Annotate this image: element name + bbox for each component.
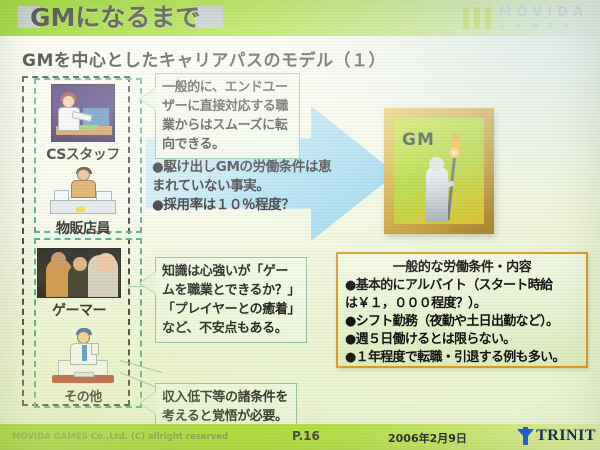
movida-sub: G A M E S: [499, 22, 588, 30]
movida-name: MOVIDA: [499, 6, 588, 19]
movida-wordmark: MOVIDA G A M E S: [499, 4, 588, 30]
trinity-mark-icon: [517, 427, 534, 445]
cs-staff-icon: [51, 84, 115, 142]
callout-text: 一般的に、エンドユーザーに直接対応する職業からはスムーズに転向できる。: [162, 80, 288, 152]
conditions-item: ●基本的にアルバイト（スタート時給: [345, 277, 579, 295]
footer-page-number: P.16: [292, 429, 320, 443]
trinity-logo: TRINIT: [517, 427, 596, 445]
callout-text: 収入低下等の諸条件を考えると覚悟が必要。: [162, 390, 288, 424]
page-title: GMになるまで: [30, 3, 200, 33]
role-gamer: ゲーマー: [16, 248, 142, 320]
movida-bars-icon: [463, 7, 491, 29]
movida-logo: MOVIDA G A M E S: [463, 4, 588, 30]
gm-torchbearer-icon: GM: [394, 118, 484, 224]
footer-bar: MOVIDA GAMES Co.,Ltd. (C) allright reser…: [0, 424, 600, 450]
gm-goal-frame: GM: [384, 108, 494, 234]
conditions-item: ●１年程度で転職・引退する例も多い。: [345, 349, 579, 367]
gamer-photo-icon: [37, 248, 121, 298]
conditions-item: ●シフト勤務（夜勤や土日出勤など）。: [345, 313, 579, 331]
conditions-list: ●基本的にアルバイト（スタート時給 は￥１，０００程度？）。 ●シフト勤務（夜勤…: [345, 277, 579, 367]
working-conditions-box: 一般的な労働条件・内容 ●基本的にアルバイト（スタート時給 は￥１，０００程度？…: [336, 252, 588, 368]
callout-customer-facing: 一般的に、エンドユーザーに直接対応する職業からはスムーズに転向できる。: [155, 73, 300, 159]
other-person-icon: [52, 326, 114, 384]
role-shop-clerk: 物販店員: [28, 166, 138, 238]
role-label-other: その他: [28, 386, 138, 405]
gm-label: GM: [402, 130, 435, 150]
arrow-note-line: まれていない事実。: [152, 177, 342, 196]
slide-subtitle: GMを中心としたキャリアパスのモデル（１）: [22, 46, 386, 71]
arrow-note-line: ●駆け出しGMの労働条件は恵: [152, 158, 342, 177]
role-label-gamer: ゲーマー: [16, 300, 142, 320]
arrow-notes: ●駆け出しGMの労働条件は恵 まれていない事実。 ●採用率は１０％程度？: [152, 158, 342, 215]
conditions-item: は￥１，０００程度？）。: [345, 295, 579, 313]
callout-gamer: 知識は心強いが「ゲームを職業とできるか？」「プレイヤーとの癒着」など、不安点もあ…: [155, 257, 307, 343]
role-label-cs-staff: CSスタッフ: [28, 144, 138, 164]
callout-text: 知識は心強いが「ゲームを職業とできるか？」「プレイヤーとの癒着」など、不安点もあ…: [162, 264, 300, 336]
shop-clerk-icon: [48, 166, 118, 216]
callout-tail-icon: [140, 392, 156, 414]
role-label-shop-clerk: 物販店員: [28, 218, 138, 238]
callout-tail-icon: [140, 88, 156, 110]
conditions-title: 一般的な労働条件・内容: [345, 259, 579, 276]
callout-tail-icon: [140, 272, 156, 294]
arrow-note-line: ●採用率は１０％程度？: [152, 196, 342, 215]
footer-copyright: MOVIDA GAMES Co.,Ltd. (C) allright reser…: [12, 432, 228, 442]
footer-date: 2006年2月9日: [388, 430, 467, 446]
slide: GMになるまで MOVIDA G A M E S GMを中心としたキャリアパスの…: [0, 0, 600, 450]
role-other: その他: [28, 326, 138, 405]
trinity-wordmark: TRINIT: [536, 427, 596, 445]
role-cs-staff: CSスタッフ: [28, 84, 138, 164]
conditions-item: ●週５日働けるとは限らない。: [345, 331, 579, 349]
